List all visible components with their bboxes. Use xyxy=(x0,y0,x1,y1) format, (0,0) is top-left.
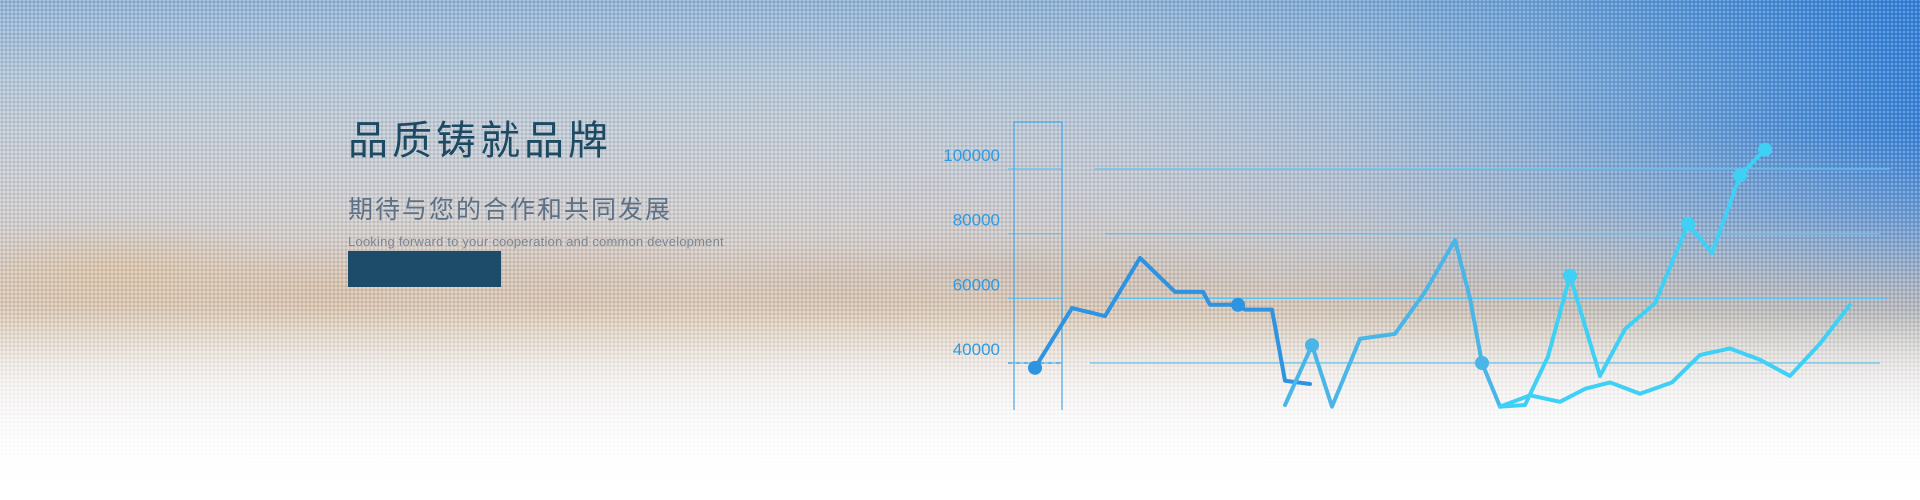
chart-data-point xyxy=(1231,298,1245,312)
chart-series-group xyxy=(1028,143,1850,407)
chart-data-point xyxy=(1563,269,1577,283)
chart-series-line xyxy=(1500,150,1765,407)
hero-banner: 100000800006000040000 品质铸就品牌 期待与您的合作和共同发… xyxy=(0,0,1920,500)
chart-data-point xyxy=(1028,361,1042,375)
chart-gridlines xyxy=(1008,169,1890,363)
line-chart: 100000800006000040000 xyxy=(0,0,1920,500)
chart-series-line xyxy=(1285,240,1500,407)
hero-copy: 品质铸就品牌 期待与您的合作和共同发展 Looking forward to y… xyxy=(348,118,1048,249)
chart-axis-tick-label: 60000 xyxy=(953,275,1000,294)
page-subtitle: 期待与您的合作和共同发展 xyxy=(348,190,1048,226)
chart-axis-tick-label: 40000 xyxy=(953,340,1000,359)
learn-more-button[interactable] xyxy=(348,251,501,287)
page-subtitle-en: Looking forward to your cooperation and … xyxy=(348,234,1048,249)
chart-data-point xyxy=(1733,168,1747,182)
chart-data-point xyxy=(1758,143,1772,157)
chart-series-line xyxy=(1035,258,1310,384)
chart-data-point xyxy=(1475,356,1489,370)
chart-data-point xyxy=(1305,338,1319,352)
page-title: 品质铸就品牌 xyxy=(348,118,1048,164)
chart-data-point xyxy=(1681,217,1695,231)
chart-series-line xyxy=(1500,305,1850,407)
